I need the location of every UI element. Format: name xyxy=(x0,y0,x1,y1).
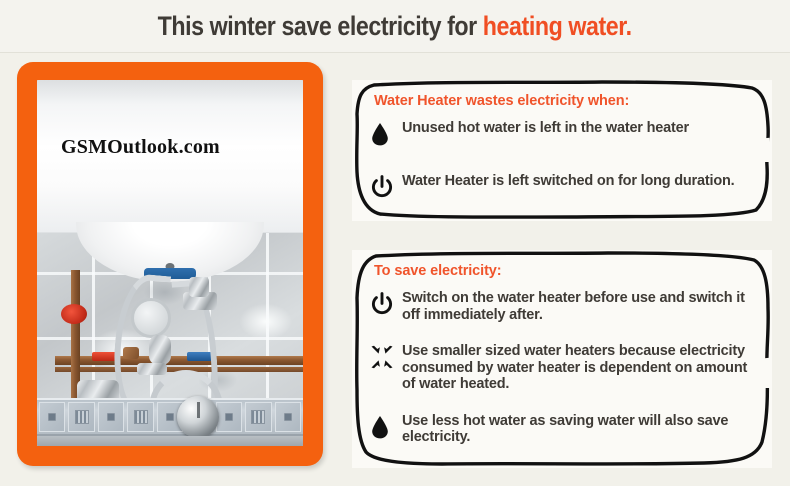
compress-arrows-icon xyxy=(370,341,402,372)
chrome-fitting-center-lower xyxy=(137,363,167,375)
bullet-text: Water Heater is left switched on for lon… xyxy=(402,171,734,190)
power-icon xyxy=(370,171,402,202)
tile-mark-icon xyxy=(225,413,233,421)
page-title: This winter save electricity for heating… xyxy=(158,13,632,40)
compress-arrows-glyph xyxy=(370,345,394,369)
bullet-text: Unused hot water is left in the water he… xyxy=(402,118,689,137)
bullet-item: Water Heater is left switched on for lon… xyxy=(370,171,750,202)
decorative-tile-strip xyxy=(37,398,303,436)
water-drop-icon xyxy=(370,411,402,442)
bullet-item: Unused hot water is left in the water he… xyxy=(370,118,750,149)
bullet-text: Use less hot water as saving water will … xyxy=(402,411,750,446)
power-glyph xyxy=(370,292,394,316)
title-prefix: This winter save electricity for xyxy=(158,11,483,41)
callout-heading: To save electricity: xyxy=(374,263,750,279)
tile-mark-icon xyxy=(284,413,292,421)
chrome-elbow-upper-right xyxy=(189,277,209,297)
tile-cell xyxy=(245,402,271,432)
photo-frame: GSMOutlook.com xyxy=(17,62,323,466)
tile-mark-icon xyxy=(107,413,115,421)
tile-cell xyxy=(68,402,94,432)
callout-heading: Water Heater wastes electricity when: xyxy=(374,93,750,109)
callout-box-to-save-electricity: To save electricity: Switch on the water… xyxy=(352,250,772,468)
tile-cell xyxy=(39,402,65,432)
callout-box-wastes-electricity: Water Heater wastes electricity when: Un… xyxy=(352,80,772,221)
tile-mark-icon xyxy=(166,413,174,421)
power-glyph xyxy=(370,175,394,199)
tile-mark-icon xyxy=(48,413,56,421)
photo-bottom-edge xyxy=(37,436,303,446)
bullet-item: Use less hot water as saving water will … xyxy=(370,411,750,446)
tile-mark-icon xyxy=(75,410,89,424)
water-heater-photo: GSMOutlook.com xyxy=(37,80,303,446)
bullet-text: Use smaller sized water heaters because … xyxy=(402,341,750,393)
copper-coupling xyxy=(123,347,139,359)
watermark-text: GSMOutlook.com xyxy=(61,136,220,159)
bullet-item: Switch on the water heater before use an… xyxy=(370,288,750,323)
tile-cell xyxy=(275,402,301,432)
bullet-text: Switch on the water heater before use an… xyxy=(402,288,750,323)
header-banner: This winter save electricity for heating… xyxy=(0,0,790,53)
bullet-item: Use smaller sized water heaters because … xyxy=(370,341,750,393)
chrome-fitting-center xyxy=(149,335,171,365)
power-icon xyxy=(370,288,402,319)
title-accent: heating water. xyxy=(483,11,632,41)
chrome-strip-knob xyxy=(177,396,219,438)
red-valve-wheel xyxy=(61,304,87,324)
tile-mark-icon xyxy=(134,410,148,424)
water-drop-glyph xyxy=(370,122,390,146)
tile-cell xyxy=(127,402,153,432)
tile-cell xyxy=(98,402,124,432)
tile-mark-icon xyxy=(251,410,265,424)
water-drop-glyph xyxy=(370,415,390,439)
tile-cell xyxy=(216,402,242,432)
water-drop-icon xyxy=(370,118,402,149)
